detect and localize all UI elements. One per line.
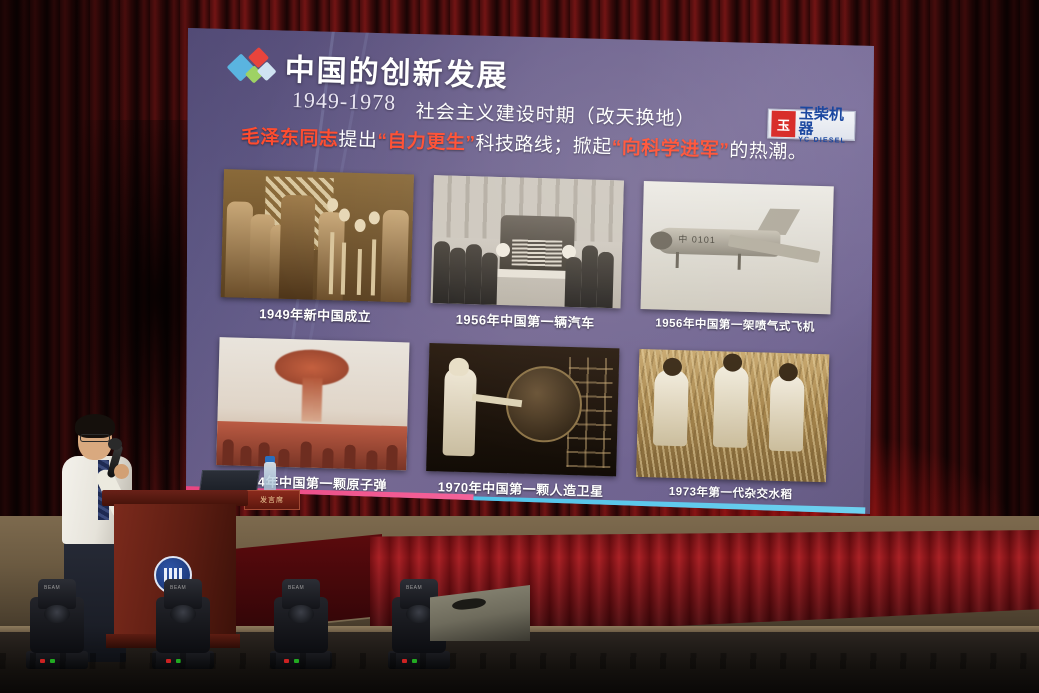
slide-year-range: 1949-1978 — [292, 87, 397, 116]
yc-logo-cn: 玉柴机器 — [798, 106, 855, 138]
statement-part-4: 科技路线；掀起 — [475, 133, 612, 158]
photo-row-top: 1949年新中国成立 — [220, 169, 844, 354]
photo-cell-rice: 1973年第一代杂交水稻 — [635, 349, 829, 503]
auditorium-scene: 中国的创新发展 1949-1978 社会主义建设时期（改天换地） 玉 玉柴机器 … — [0, 0, 1039, 693]
presenter-hand — [114, 464, 129, 479]
statement-part-3: “自力更生” — [377, 130, 476, 154]
photo-atomic-bomb — [216, 337, 409, 470]
photo-caption: 1956年中国第一架喷气式飞机 — [640, 314, 830, 335]
yc-mark-icon: 玉 — [771, 111, 796, 138]
presenter-glasses — [80, 434, 110, 442]
photo-caption: 1973年第一代杂交水稻 — [635, 482, 825, 503]
photo-cell-founding: 1949年新中国成立 — [220, 169, 414, 326]
yc-diesel-logo: 玉 玉柴机器 YC DIESEL — [767, 108, 856, 140]
light-brand-label: BEAM — [44, 585, 60, 591]
slide-photo-grid: 1949年新中国成立 — [215, 169, 844, 520]
statement-part-6: 的热潮。 — [729, 140, 808, 163]
stage-cables — [0, 653, 1039, 669]
photo-founding-ceremony — [221, 169, 414, 302]
photo-first-truck — [431, 175, 624, 308]
photo-caption: 1956年中国第一辆汽车 — [430, 308, 620, 332]
photo-caption: 1949年新中国成立 — [220, 302, 410, 326]
light-brand-label: BEAM — [288, 585, 304, 591]
statement-part-2: 提出 — [338, 129, 378, 151]
nameplate-text: 发言席 — [260, 495, 284, 505]
statement-part-1: 毛泽东同志 — [241, 127, 339, 151]
photo-first-satellite — [426, 343, 619, 476]
photo-hybrid-rice — [636, 349, 829, 482]
photo-cell-satellite: 1970年中国第一颗人造卫星 — [425, 343, 619, 500]
projection-screen: 中国的创新发展 1949-1978 社会主义建设时期（改天换地） 玉 玉柴机器 … — [186, 20, 876, 520]
light-brand-label: BEAM — [406, 585, 422, 591]
podium-nameplate: 发言席 — [244, 490, 300, 510]
four-diamond-logo — [230, 49, 279, 90]
light-brand-label: BEAM — [170, 585, 186, 591]
microphone-head — [108, 438, 122, 450]
statement-part-5: “向科学进军” — [612, 137, 730, 161]
photo-cell-jet: 中 0101 1956年中国第一架喷气式飞机 — [640, 181, 834, 335]
presentation-slide: 中国的创新发展 1949-1978 社会主义建设时期（改天换地） 玉 玉柴机器 … — [186, 20, 876, 520]
photo-first-jet: 中 0101 — [640, 181, 833, 314]
photo-cell-truck: 1956年中国第一辆汽车 — [430, 175, 624, 332]
